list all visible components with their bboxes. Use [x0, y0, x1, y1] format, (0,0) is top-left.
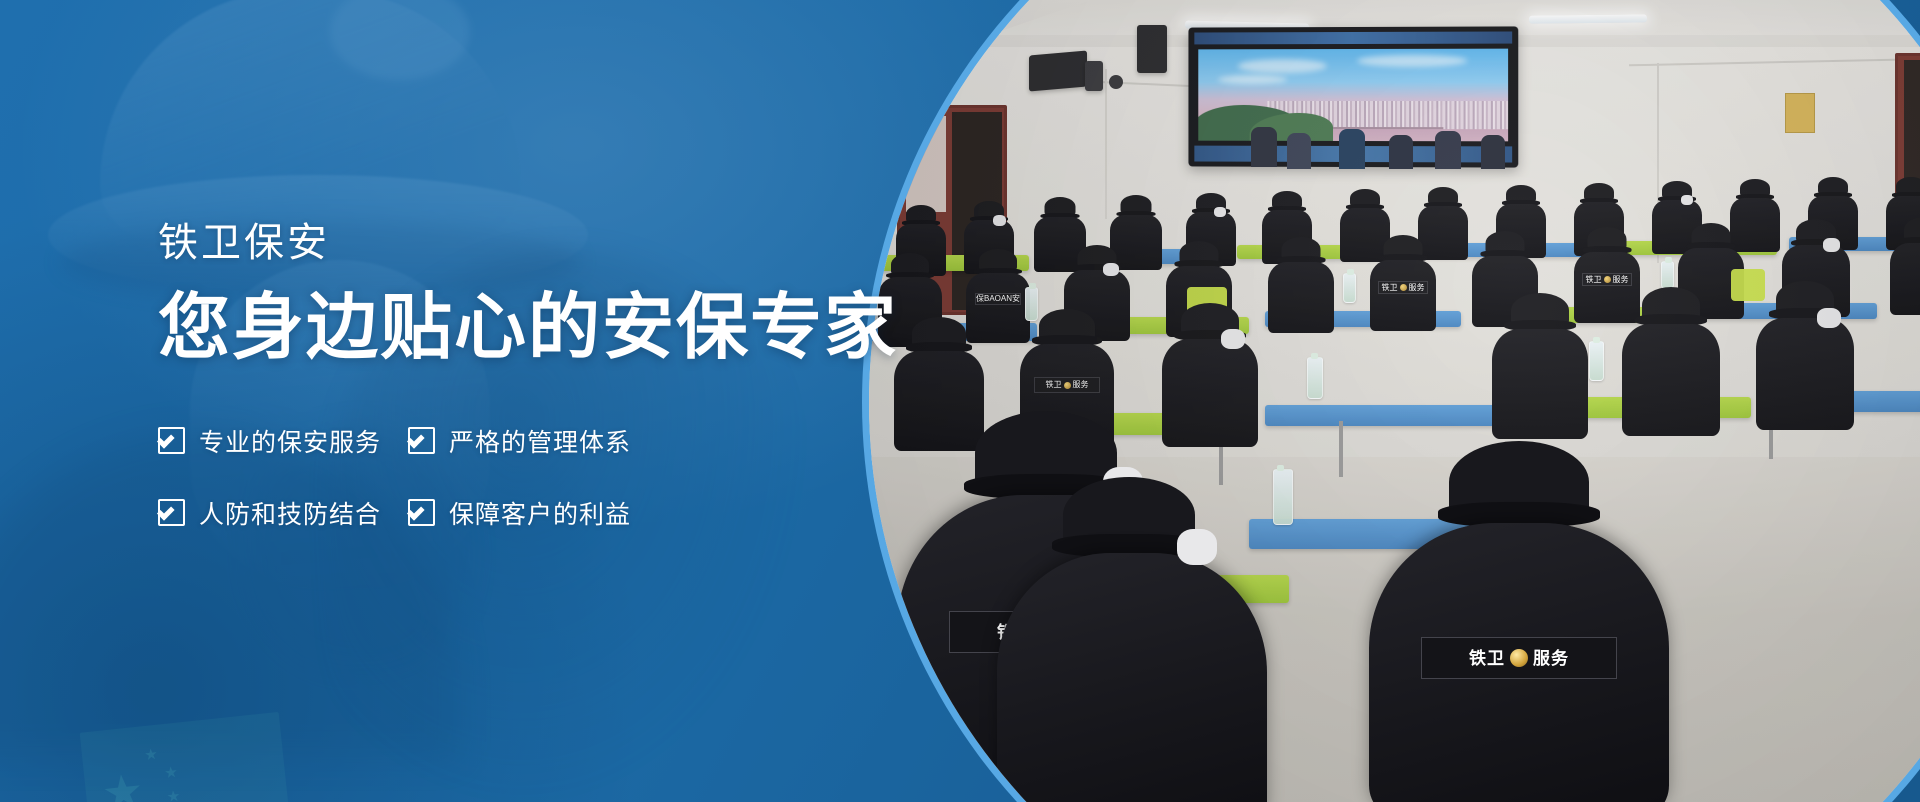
- uniform-text: 铁卫: [1382, 284, 1398, 292]
- notice-board: [1785, 93, 1815, 133]
- uniform-badge-strip: 铁卫 服务: [1421, 637, 1617, 679]
- uniform-cap: [1063, 477, 1195, 553]
- trainee: [1621, 287, 1721, 433]
- flag-star-large: ★: [100, 767, 146, 802]
- instructor: [1435, 131, 1461, 169]
- classroom-photo: 保BAOAN安 铁卫 服务: [869, 0, 1920, 802]
- trainee: [1267, 237, 1335, 331]
- foreground-trainee: [997, 477, 1267, 802]
- water-bottle: [1273, 469, 1293, 525]
- hero-copy: 铁卫保安 您身边贴心的安保专家 专业的保安服务 严格的管理体系 人防和技防结合 …: [158, 218, 938, 531]
- uniform-badge-strip: 铁卫 服务: [1034, 377, 1100, 393]
- wall-speaker-icon: [1137, 25, 1167, 73]
- feature-item-4: 保障客户的利益: [408, 495, 658, 531]
- uniform-badge-strip: 铁卫 服务: [1582, 273, 1632, 286]
- uniform-text: 保BAOAN安: [976, 295, 1020, 303]
- water-bottle: [1589, 341, 1604, 381]
- hero-banner: ★ ★ ★ ★ ★: [0, 0, 1920, 802]
- uniform-text: 服务: [1073, 381, 1089, 389]
- feature-item-1: 专业的保安服务: [158, 423, 408, 459]
- checkbox-checked-icon: [408, 427, 435, 454]
- security-camera-icon: [1109, 75, 1123, 89]
- feature-label: 严格的管理体系: [449, 423, 631, 459]
- instructor: [1389, 135, 1413, 169]
- trainee: [1889, 217, 1920, 313]
- emblem-icon: [1064, 382, 1071, 389]
- uniform-text: 铁卫: [1046, 381, 1062, 389]
- brand-eyebrow: 铁卫保安: [158, 218, 938, 268]
- instructor: [1251, 127, 1277, 167]
- feature-label: 人防和技防结合: [199, 495, 381, 531]
- flag-star-small: ★: [166, 789, 181, 802]
- trainee: 铁卫 服务: [1369, 235, 1437, 329]
- desk: [1265, 405, 1505, 426]
- feature-list: 专业的保安服务 严格的管理体系 人防和技防结合 保障客户的利益: [158, 423, 938, 531]
- feature-item-3: 人防和技防结合: [158, 495, 408, 531]
- water-bottle: [1343, 273, 1356, 303]
- water-bottle: [1661, 261, 1674, 289]
- uniform-text: 服务: [1533, 650, 1569, 667]
- feature-item-2: 严格的管理体系: [408, 423, 658, 459]
- flag-star-small: ★: [164, 765, 179, 781]
- instructor: [1287, 133, 1311, 169]
- desk-leg: [1339, 421, 1343, 477]
- emblem-icon: [1510, 649, 1528, 667]
- hero-headline: 您身边贴心的安保专家: [158, 286, 938, 371]
- uniform-text: 铁卫: [1469, 650, 1505, 667]
- feature-label: 专业的保安服务: [199, 423, 381, 459]
- uniform-badge-strip: 铁卫 服务: [1378, 281, 1428, 294]
- ceiling-light: [1529, 14, 1647, 23]
- wall-speaker-icon: [1029, 50, 1087, 91]
- water-bottle: [1307, 357, 1323, 399]
- checkbox-checked-icon: [158, 499, 185, 526]
- wall-speaker-icon: [1085, 61, 1103, 91]
- foreground-trainee: 铁卫 服务: [1369, 441, 1669, 802]
- uniform-text: 服务: [1409, 284, 1425, 292]
- china-flag-icon: ★ ★ ★ ★ ★: [80, 712, 293, 802]
- uniform-text: 铁卫: [1586, 276, 1602, 284]
- wall-panel-edge: [1105, 69, 1107, 219]
- emblem-icon: [1400, 284, 1407, 291]
- checkbox-checked-icon: [408, 499, 435, 526]
- uniform-badge-strip: 保BAOAN安: [975, 293, 1021, 305]
- led-display-content: [1198, 49, 1508, 142]
- instructor: [1339, 129, 1365, 169]
- trainee: [1755, 281, 1855, 427]
- feature-label: 保障客户的利益: [449, 495, 631, 531]
- instructor: [1481, 135, 1505, 169]
- trainee: [1491, 293, 1589, 437]
- flag-star-small: ★: [144, 747, 159, 763]
- uniform-cap: [1449, 441, 1589, 523]
- emblem-icon: [1604, 276, 1611, 283]
- uniform-text: 服务: [1613, 276, 1629, 284]
- checkbox-checked-icon: [158, 427, 185, 454]
